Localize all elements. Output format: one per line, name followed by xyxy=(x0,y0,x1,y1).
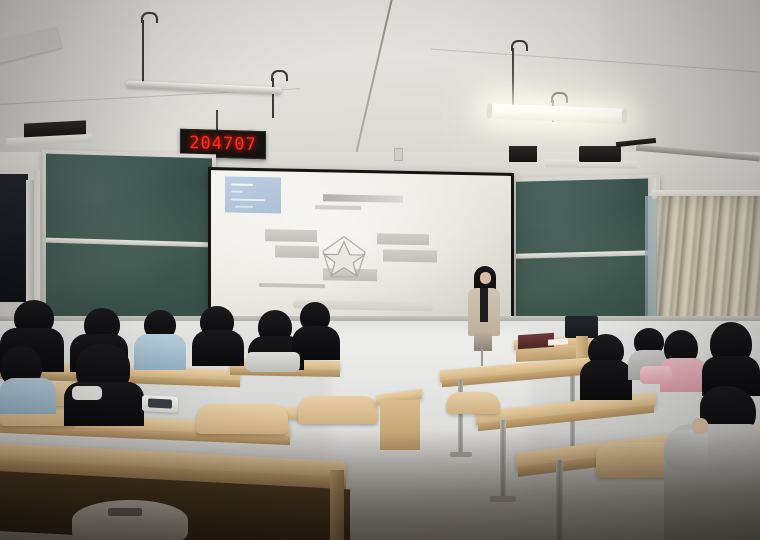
student-l3-body xyxy=(134,334,186,370)
lectern-laptop-screen xyxy=(565,316,598,338)
blue-image-panel xyxy=(225,176,281,213)
slide-subtitle-text xyxy=(315,205,361,210)
tablet-screen xyxy=(148,398,172,408)
student-l4-body xyxy=(192,330,244,366)
presenter-lower-body xyxy=(474,333,492,351)
slide-title-text xyxy=(323,194,403,203)
right-blackboard xyxy=(512,174,660,338)
presenter-inner-top xyxy=(480,288,488,322)
slide-callout-2 xyxy=(275,245,319,258)
ceiling-projector xyxy=(579,146,621,162)
left-blackboard-rail xyxy=(46,238,212,248)
light-rod-left-b xyxy=(272,78,274,118)
light-rod-left-a xyxy=(142,20,144,85)
slide-callout-1 xyxy=(265,229,317,242)
student-r1-body xyxy=(580,360,632,400)
mic-stand xyxy=(481,344,483,366)
chair-left-3[interactable] xyxy=(298,396,378,424)
clock-mount-rod xyxy=(216,110,218,132)
lectern-post xyxy=(576,336,588,360)
wall-speaker-right xyxy=(509,146,537,162)
presenter-face xyxy=(480,272,491,284)
star-pentagon-diagram xyxy=(321,234,367,279)
pink-bag xyxy=(640,366,672,384)
left-blackboard xyxy=(42,150,216,335)
clock-digits: 204707 xyxy=(189,133,256,155)
slide-callout-4 xyxy=(383,249,437,262)
chair-right-2[interactable] xyxy=(446,392,500,414)
slide-callout-3 xyxy=(377,233,429,245)
classroom-scene: 204707 xyxy=(0,0,760,540)
student-l8-body xyxy=(0,378,56,414)
left-cabinet-dark xyxy=(0,174,28,302)
student-l6-cloth xyxy=(246,352,300,372)
student-l7-collar xyxy=(72,386,102,400)
light-rod-right-a xyxy=(512,48,514,111)
right-blackboard-rail xyxy=(516,250,656,258)
wall-switch[interactable] xyxy=(394,148,403,161)
left-wall-edge xyxy=(34,170,40,320)
foreground-shadow xyxy=(0,430,760,540)
